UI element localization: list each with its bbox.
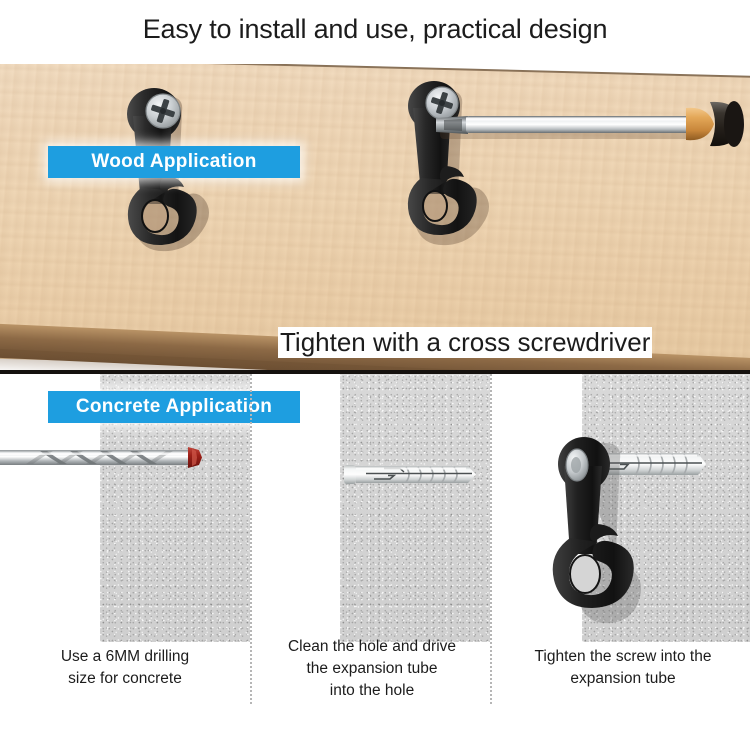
wood-section-caption: Tighten with a cross screwdriver — [278, 327, 652, 358]
wood-application-badge-label: Wood Application — [91, 151, 256, 173]
masonry-drill-bit-icon — [0, 434, 216, 482]
step-2-caption-line-3: into the hole — [258, 680, 486, 702]
concrete-application-section: Concrete Application Use a 6MM drilling … — [0, 374, 750, 750]
concrete-application-badge: Concrete Application — [48, 391, 300, 423]
section-divider — [0, 370, 750, 374]
product-infographic: Easy to install and use, practical desig… — [0, 0, 750, 750]
step-3-caption-line-1: Tighten the screw into the — [500, 646, 746, 668]
step-2-caption-line-2: the expansion tube — [258, 658, 486, 680]
step-2-caption-line-1: Clean the hole and drive — [258, 636, 486, 658]
concrete-application-badge-label: Concrete Application — [76, 396, 272, 418]
step-divider-2 — [490, 374, 492, 704]
cross-screwdriver-icon — [434, 90, 750, 170]
page-title: Easy to install and use, practical desig… — [0, 14, 750, 45]
step-1-caption: Use a 6MM drilling size for concrete — [6, 646, 244, 690]
wood-application-section: Wood Application — [0, 64, 750, 372]
step-3-caption: Tighten the screw into the expansion tub… — [500, 646, 746, 690]
step-1-caption-line-1: Use a 6MM drilling — [6, 646, 244, 668]
hook-with-screw-in-tube-icon — [540, 432, 750, 632]
concrete-slab-step-2 — [340, 374, 490, 642]
step-divider-1 — [250, 374, 252, 704]
step-1-caption-line-2: size for concrete — [6, 668, 244, 690]
step-2-caption: Clean the hole and drive the expansion t… — [258, 636, 486, 702]
wood-application-badge: Wood Application — [48, 146, 300, 178]
expansion-tube-icon — [344, 455, 504, 495]
step-3-caption-line-2: expansion tube — [500, 668, 746, 690]
